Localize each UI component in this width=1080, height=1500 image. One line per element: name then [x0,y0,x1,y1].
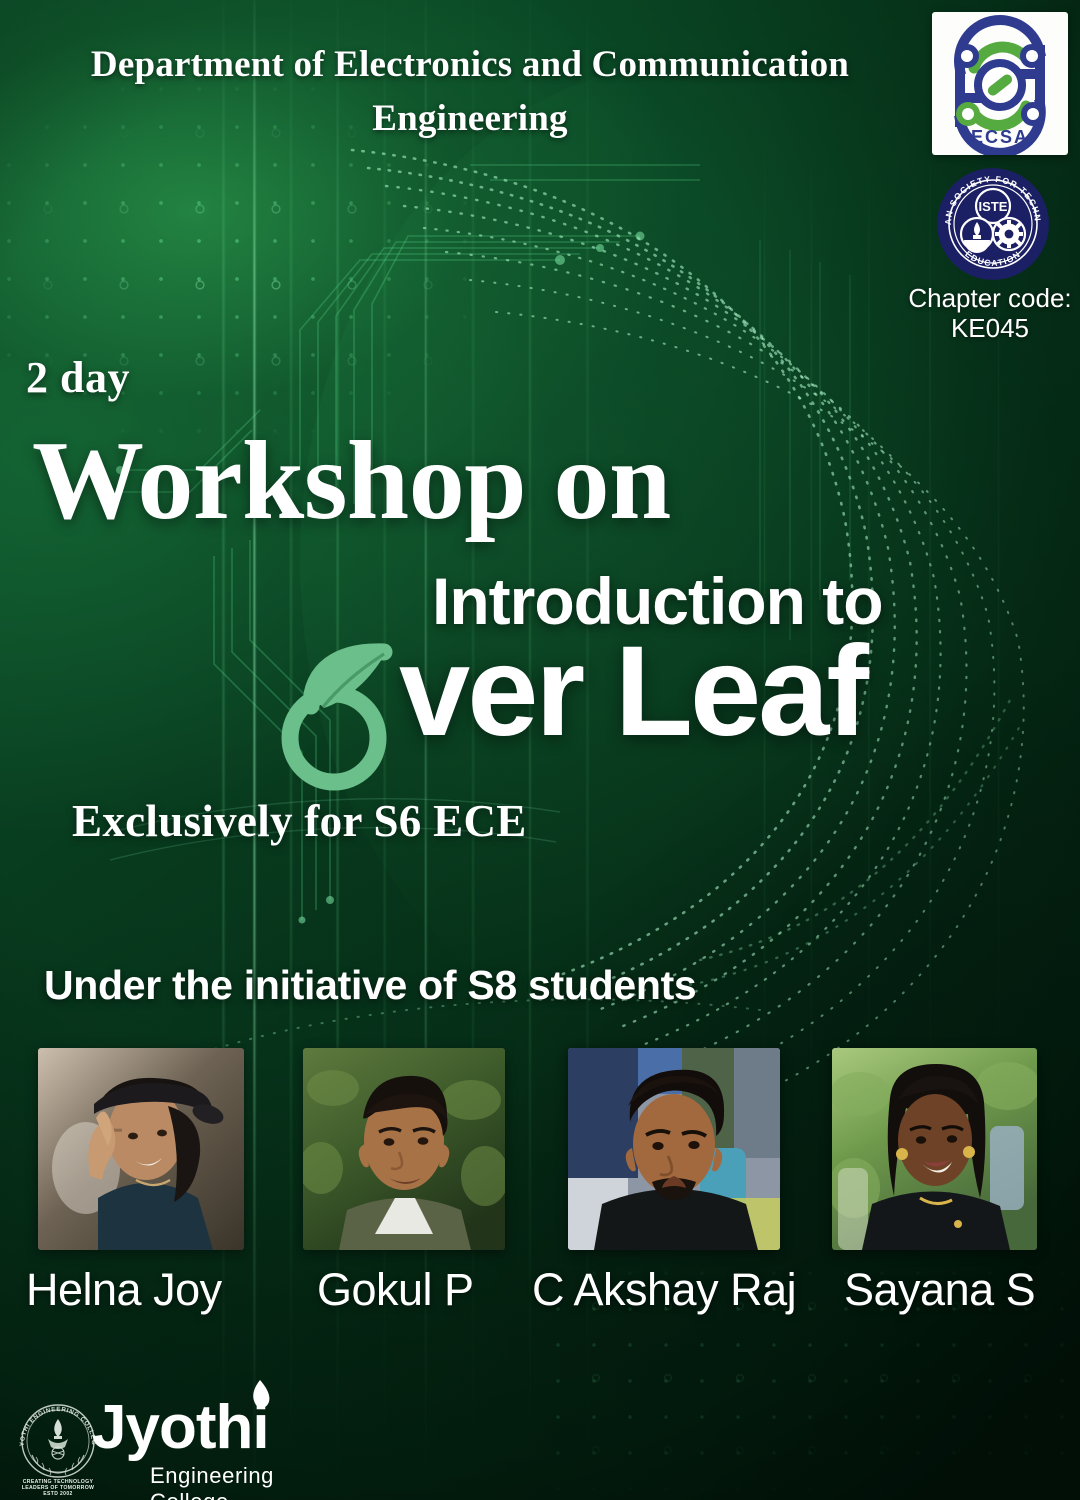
jyothi-wordmark: Jyothi Engineering College [92,1397,322,1495]
student-name: Gokul P [317,1264,505,1316]
audience-line: Exclusively for S6 ECE [72,795,527,847]
overleaf-title-row: ver Leaf [266,628,866,794]
college-name: Jyothi [92,1397,322,1459]
portrait-helna-joy-icon [38,1048,244,1250]
student-name: Sayana S [844,1264,1037,1316]
chapter-code-label: Chapter code: [908,283,1071,313]
list-item: Gokul P [303,1048,505,1316]
iste-logo: INDIAN SOCIETY FOR TECHNICAL EDUCATION I… [937,168,1049,280]
department-title: Department of Electronics and Communicat… [20,38,920,145]
student-list: Helna Joy [0,1048,1080,1313]
initiative-line: Under the initiative of S8 students [44,962,696,1009]
chapter-code-value: KE045 [951,313,1029,343]
flame-icon [247,1379,273,1413]
svg-text:JYOTHI ENGINEERING COLLEGE: JYOTHI ENGINEERING COLLEGE [12,1399,97,1446]
workshop-duration: 2 day [26,352,130,403]
svg-text:ISTE: ISTE [979,199,1008,214]
svg-text:ESTD 2002: ESTD 2002 [43,1491,72,1495]
ecsa-circuit-logo: ECSA [932,12,1068,155]
portrait-gokul-p-icon [303,1048,505,1250]
student-name: C Akshay Raj [532,1264,780,1316]
college-subtitle: Engineering College [150,1463,322,1500]
list-item: Helna Joy [38,1048,244,1316]
subject-word: ver Leaf [399,628,866,756]
avatar [832,1048,1037,1250]
student-name: Helna Joy [26,1264,244,1316]
ecsa-logo: ECSA [932,12,1068,155]
svg-text:ECSA: ECSA [971,127,1029,147]
iste-seal-logo: INDIAN SOCIETY FOR TECHNICAL EDUCATION I… [937,168,1049,280]
avatar [568,1048,780,1250]
chapter-code: Chapter code: KE045 [900,283,1080,344]
list-item: C Akshay Raj [568,1048,780,1316]
list-item: Sayana S [832,1048,1037,1316]
portrait-c-akshay-raj-icon [568,1048,780,1250]
avatar [38,1048,244,1250]
poster-root: Department of Electronics and Communicat… [0,0,1080,1500]
college-footer: JYOTHI ENGINEERING COLLEGE CREATING TECH… [0,1395,560,1500]
overleaf-leaf-icon [266,634,411,794]
portrait-sayana-s-icon [832,1048,1037,1250]
workshop-headline: Workshop on [32,425,671,537]
jyothi-college-seal-icon: JYOTHI ENGINEERING COLLEGE CREATING TECH… [12,1399,104,1495]
avatar [303,1048,505,1250]
